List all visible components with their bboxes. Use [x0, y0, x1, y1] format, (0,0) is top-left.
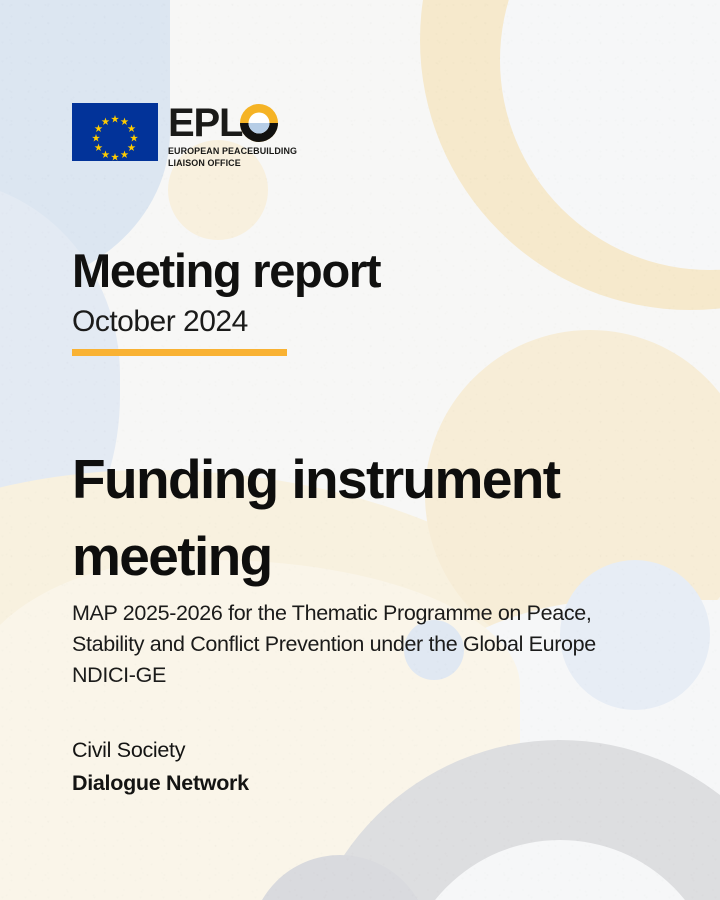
eplo-acronym-row: EPL: [168, 103, 305, 143]
brand-line-civil-society: Civil Society: [72, 734, 249, 767]
eu-stars-icon: [72, 103, 158, 161]
european-union-flag-icon: [72, 103, 158, 161]
eplo-o-ring-icon: [239, 103, 279, 143]
eplo-full-name: EUROPEAN PEACEBUILDING LIAISON OFFICE: [168, 146, 297, 169]
document-cover-page: EPL EUROPEAN PEACEBUILDING LIAISON OFFIC…: [0, 0, 720, 900]
eplo-logo: EPL EUROPEAN PEACEBUILDING LIAISON OFFIC…: [72, 103, 305, 169]
page-date: October 2024: [72, 303, 248, 341]
brand-lockup: Civil Society Dialogue Network: [72, 734, 249, 800]
brand-line-dialogue-network: Dialogue Network: [72, 767, 249, 800]
cover-content: EPL EUROPEAN PEACEBUILDING LIAISON OFFIC…: [72, 0, 672, 900]
eplo-acronym-letters: EPL: [168, 103, 242, 143]
page-kicker: Meeting report: [72, 243, 380, 299]
page-subtitle: MAP 2025-2026 for the Thematic Programme…: [72, 598, 632, 691]
eplo-wordmark: EPL EUROPEAN PEACEBUILDING LIAISON OFFIC…: [168, 103, 305, 169]
page-title: Funding instrument meeting: [72, 441, 672, 595]
accent-rule: [72, 349, 287, 356]
